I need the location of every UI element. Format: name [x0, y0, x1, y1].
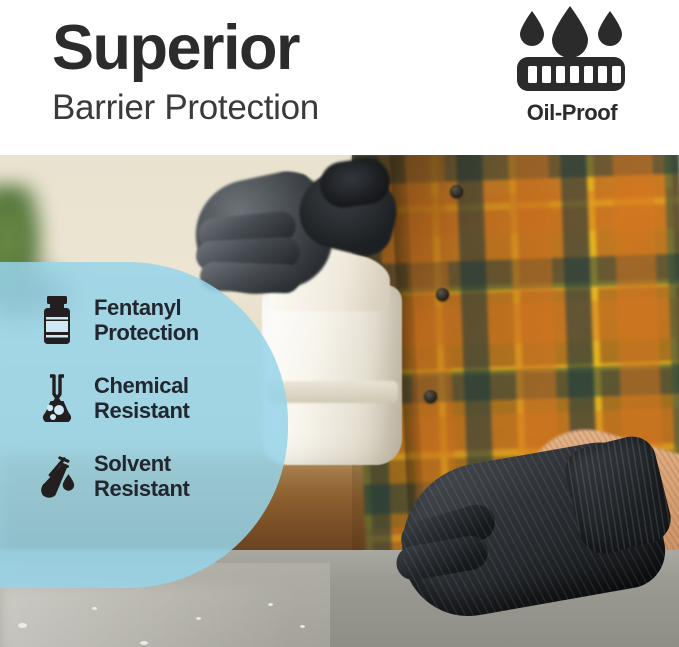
oil-proof-badge: Oil-Proof: [497, 5, 647, 126]
vial-icon-wrapper: [36, 294, 78, 346]
shirt-button: [424, 390, 437, 403]
feature-line-1: Fentanyl: [94, 295, 181, 320]
test-tube-icon: [36, 452, 78, 500]
oil-proof-label: Oil-Proof: [527, 100, 618, 126]
feature-label-fentanyl: Fentanyl Protection: [94, 295, 199, 345]
header-text-block: Superior Barrier Protection: [52, 14, 452, 131]
shirt-button: [436, 288, 449, 301]
feature-list: Fentanyl Protection Chemical Resistant: [0, 262, 290, 588]
feature-line-2: Resistant: [94, 476, 189, 501]
oil-drops-barrier-icon: [509, 5, 635, 93]
feature-line-1: Solvent: [94, 451, 171, 476]
feature-line-1: Chemical: [94, 373, 189, 398]
feature-item-fentanyl: Fentanyl Protection: [36, 294, 290, 346]
feature-label-solvent: Solvent Resistant: [94, 451, 189, 501]
feature-label-chemical: Chemical Resistant: [94, 373, 189, 423]
flask-icon: [37, 374, 77, 422]
test-tube-icon-wrapper: [36, 450, 78, 502]
page-title: Superior: [52, 14, 452, 82]
feature-line-2: Resistant: [94, 398, 189, 423]
header-band: Superior Barrier Protection: [0, 0, 679, 155]
feature-item-solvent: Solvent Resistant: [36, 450, 290, 502]
feature-item-chemical: Chemical Resistant: [36, 372, 290, 424]
vial-icon: [40, 295, 74, 345]
countertop-highlight: [0, 585, 420, 647]
shirt-button: [450, 185, 463, 198]
flask-icon-wrapper: [36, 372, 78, 424]
page-subtitle: Barrier Protection: [52, 85, 452, 131]
feature-line-2: Protection: [94, 320, 199, 345]
product-marketing-image: Superior Barrier Protection: [0, 0, 679, 647]
